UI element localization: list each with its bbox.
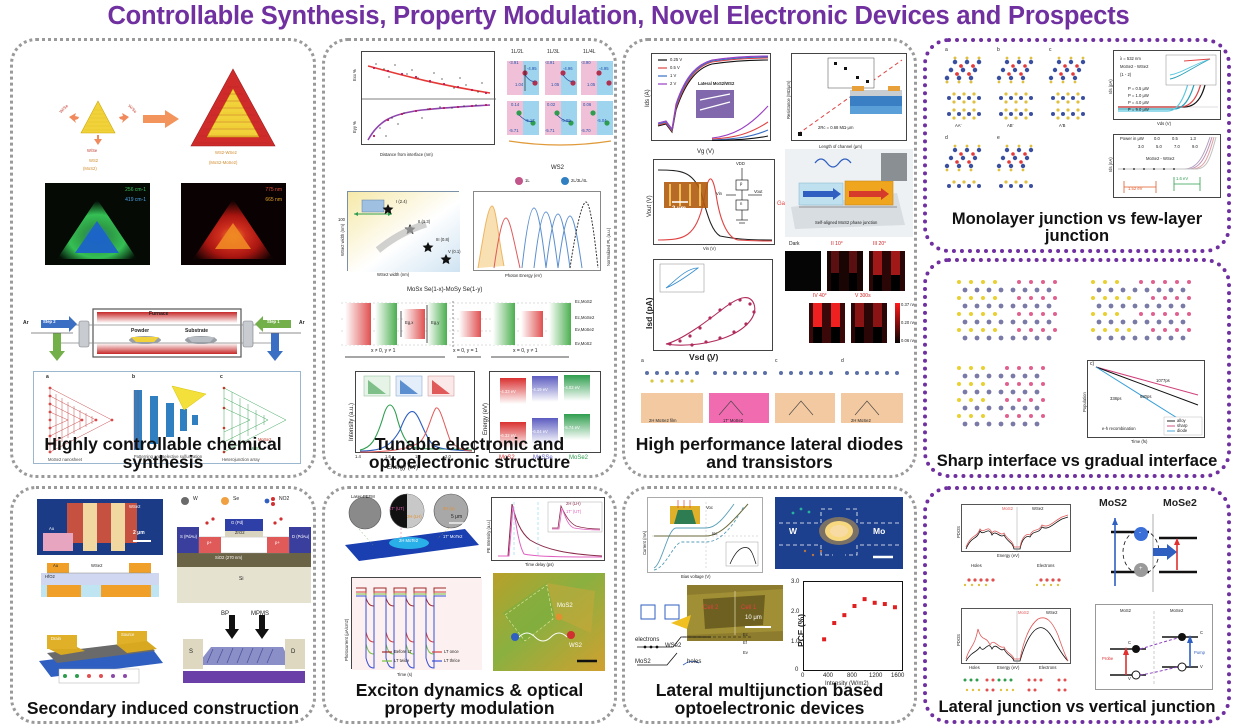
photocurrent-legend: Before LT LT twice LT once LT thrice xyxy=(382,648,478,666)
width-point-5: V (0.1) xyxy=(448,250,461,254)
mpms-device-stack: G (Pd) S (PdAu) D (PdAu) SiO2 (270 nm) S… xyxy=(177,511,311,607)
panel-6-caption: Secondary induced construction xyxy=(17,699,309,717)
iv-photoresponse-plot: λ = 532 nm MoSe2 - WSe2 (1 - 2) P = 0.5 … xyxy=(1113,50,1221,120)
alloy-gap-x: Eg,x xyxy=(405,321,413,325)
recombination-letter: c) xyxy=(1090,362,1094,367)
legend-se: Se xyxy=(233,497,239,502)
panel-3-caption: High performance lateral diodes and tran… xyxy=(629,435,910,471)
solar-iv-plot: Voc Isc xyxy=(647,497,763,573)
band-offset-header-1: 1L/3L xyxy=(547,50,560,55)
stacking-label-ab: AB' xyxy=(1007,124,1013,128)
photocurrent-legend-3: LT thrice xyxy=(444,659,460,663)
pdos-bottom-ylabel: PDOS xyxy=(957,634,961,646)
power-val-6: 9.0 xyxy=(1192,145,1198,149)
recombination-annot-680: 680ps xyxy=(1140,395,1151,399)
alloy-band-diagram: Ec,MoS2 Ec,MoSe2 Ev,MoSe2 Ev,MoS2 Eg,x E… xyxy=(341,297,603,367)
photocurrent-ylabel: Photocurrent (μA/cm2) xyxy=(345,619,349,661)
pump-probe-sketch: MoS2 MoSe2 Probe Pump C C V V xyxy=(1095,604,1213,690)
panel-1-caption: Highly controllable chemical synthesis xyxy=(17,435,309,471)
width-star-plot: I (2.4) II (1.3) III (0.8) V (0.1) 100 xyxy=(347,191,459,271)
peem-label-1t: 1T' (UT) xyxy=(389,507,404,511)
mpms-substrate: Si xyxy=(239,577,243,582)
band-offset-material: WS2 xyxy=(551,165,564,171)
furnace-substrate-label: Substrate xyxy=(185,329,208,334)
panel-tunable-structure[interactable]: Exx % Eyy % Distance from interface (nm) xyxy=(322,38,617,478)
band-ef-label: Ef xyxy=(743,641,747,645)
growth-core-label-2: (MoS2) xyxy=(83,167,97,171)
optical-hetero-mos2: MoS2 xyxy=(557,603,573,609)
pce-xtick-4: 1600 xyxy=(891,673,904,679)
optical-heterostructure-image: MoS2 WS2 xyxy=(493,573,605,671)
pce-plot xyxy=(803,581,903,671)
photocurrent-label-3: III 20° xyxy=(873,242,886,247)
pdos-top-holes: Holes xyxy=(971,564,982,568)
band-energy-ylabel: Energy (eV) xyxy=(483,403,489,435)
pl-junction-mo: Mo xyxy=(873,527,885,536)
power-val-1: 0.5 xyxy=(1172,137,1178,141)
panel-exciton-dynamics[interactable]: Laser-PEEM 1T' (UT) 2H (LH) 2H (a) 2H Mo… xyxy=(322,486,617,724)
solar-annot-voc: Voc xyxy=(706,506,713,510)
band-offset-botright-1: -5.09 xyxy=(561,119,571,123)
pdos-bottom-lattices xyxy=(955,674,1081,696)
pump-probe-v-right: V xyxy=(1200,665,1203,669)
band-offset-topleft-2: -3.90 xyxy=(581,61,591,65)
pce-ytick-0: 3.0 xyxy=(791,579,799,585)
pe-legend-1t: 1T' (UT) xyxy=(566,510,581,514)
alloy-diagram-title: MoSx Se(1-x)-MoSy Se(1-y) xyxy=(407,287,482,293)
mpms-doping-1: p+ xyxy=(275,541,280,545)
inverter-vdd: VDD xyxy=(736,162,745,166)
lattice-alloy xyxy=(953,360,1073,434)
recombination-annot-1077: 1077ps xyxy=(1156,379,1170,383)
stacking-letter-d: d xyxy=(945,136,948,141)
optical-hetero-ws2: WS2 xyxy=(569,643,582,649)
pdos-top-xlabel: Energy (eV) xyxy=(997,554,1019,558)
legend-no2: NO2 xyxy=(279,497,289,502)
device-cross-section: Au WSe2 HfO2 xyxy=(37,559,163,603)
photocurrent-cbar-1: 0.20 nA xyxy=(901,321,914,325)
bp-source: S xyxy=(189,649,193,655)
growth-product-label-1: WS2-WSe2 xyxy=(215,151,237,155)
panel-1-body: W/Se W/Se W/Se WS2 (MoS2) WS2-WSe2 (MoS2… xyxy=(13,41,313,475)
band-offset-gaptop-1: 1.05 xyxy=(551,83,559,87)
cross-section-label-au: Au xyxy=(53,564,58,568)
pdos-bottom-legend-1: WSe2 xyxy=(1046,611,1057,615)
photocurrent-label-4: IV 40° xyxy=(813,294,827,299)
alloy-gap-y: Eg,y xyxy=(431,321,439,325)
cross-section-label-hfo2: HfO2 xyxy=(45,575,55,579)
photocurrent-cbar-2: 0.06 nA xyxy=(901,339,914,343)
pump-probe-pump-label: Pump xyxy=(1194,651,1205,655)
panel-9-caption: Lateral junction vs vertical junction xyxy=(931,699,1223,716)
power-sample: MoSe2 - WSe2 xyxy=(1146,157,1174,161)
recombination-plot: c) 1077ps 680ps 338ps e-h recombination … xyxy=(1087,360,1205,438)
panel-monolayer-vs-fewlayer[interactable]: a b c d e AA' AB' A'B xyxy=(923,38,1231,253)
lattice-letter-a: a xyxy=(641,359,644,364)
legend-w: W xyxy=(193,497,198,502)
pump-probe-v-left: V xyxy=(1128,677,1131,681)
pce-xtick-0: 0 xyxy=(801,673,804,679)
pdos-top-legend-1: WSe2 xyxy=(1032,507,1043,511)
stacking-configurations: a b c d e AA' AB' A'B xyxy=(939,48,1099,196)
inverter-vout: Vout xyxy=(754,190,762,194)
transfer-legend-2: 1 V xyxy=(670,74,676,78)
band-offset-topright-0: -4.95 xyxy=(527,67,537,71)
pl-label-775: 775 nm xyxy=(265,188,282,193)
iv-legend-2: P = 4.0 μW xyxy=(1128,101,1149,105)
peem-scale: 5 μm xyxy=(451,515,462,520)
band-offset-botleft-0: -5.71 xyxy=(509,129,519,133)
furnace-step1-right: Step 1 xyxy=(267,320,280,324)
panel-8-caption: Lateral multijunction based optoelectron… xyxy=(629,681,910,717)
hysteresis-ylabel: Isd (pA) xyxy=(645,297,654,329)
cross-section-label-wse2: WSe2 xyxy=(91,564,102,568)
pe-decay-plot: 2H (LH) 1T' (UT) xyxy=(491,497,605,561)
inverter-n: n xyxy=(740,202,742,206)
panel-multijunction-optoelectronic[interactable]: Voc Isc Current (mA) Bias voltage (V) xyxy=(622,486,917,724)
sulfur-letter-a: a xyxy=(46,375,49,380)
band-offset-botleft-2: -5.70 xyxy=(581,129,591,133)
hysteresis-plot xyxy=(653,259,773,351)
inverter-xlabel: Vin (V) xyxy=(703,247,716,251)
iv-annot-0: λ = 532 nm xyxy=(1120,57,1141,61)
pump-probe-c-right: C xyxy=(1200,631,1203,635)
alloy-level-3: Ev,MoS2 xyxy=(575,342,592,346)
rectifier-illustration: Self-aligned MoS2 phase junction xyxy=(785,149,913,237)
strain-plot xyxy=(361,51,495,145)
solar-annot-isc: Isc xyxy=(712,532,717,536)
photocurrent-xlabel: Time (s) xyxy=(397,673,412,677)
power-dependence-plot: Power in μW 0.0 0.5 1.3 3.0 5.0 7.0 9.0 … xyxy=(1113,134,1221,198)
panel-6-body: WSe2 Au 2 μm Au WSe2 HfO2 xyxy=(13,489,313,721)
stacking-letter-c: c xyxy=(1049,48,1052,53)
stacking-letter-a: a xyxy=(945,48,948,53)
stacking-label-aa: AA' xyxy=(955,124,961,128)
band-offset-topleft-0: -3.91 xyxy=(509,61,519,65)
pdos-bottom-holes: Holes xyxy=(969,666,980,670)
iv-xlabel: Vds (V) xyxy=(1157,122,1171,126)
stacking-letter-e: e xyxy=(997,136,1000,141)
peem-illustration: Laser-PEEM 1T' (UT) 2H (LH) 2H (a) 2H Mo… xyxy=(339,495,483,567)
width-ylabel: WSe2 width (nm) xyxy=(341,224,345,256)
width-ytick: 100 xyxy=(338,218,345,222)
band-offset-gapbot-2: 0.06 xyxy=(583,103,591,107)
peem-label-2h: 2H (LH) xyxy=(407,515,422,519)
sulfur-letter-c: c xyxy=(220,375,223,380)
strain-xlabel: Distance from interface (nm) xyxy=(380,153,433,157)
optical-image-label-au: Au xyxy=(49,527,54,531)
panel-chemical-synthesis[interactable]: W/Se W/Se W/Se WS2 (MoS2) WS2-WSe2 (MoS2… xyxy=(10,38,316,478)
mpms-label: MPMS xyxy=(251,611,269,617)
pe-decay-ylabel: PE Intensity (a.u.) xyxy=(487,520,491,553)
growth-schematic: W/Se W/Se W/Se WS2 (MoS2) WS2-WSe2 (MoS2… xyxy=(43,51,293,176)
band-energy-cbm-2: -4.02 eV xyxy=(564,386,580,390)
band-offset-topright-2: -4.95 xyxy=(599,67,609,71)
band-energy-cbm-0: -4.33 eV xyxy=(500,390,516,394)
mpms-dielectric: ZrO2 xyxy=(235,531,245,535)
bp-drain: D xyxy=(291,649,295,655)
lattice-letter-c: c xyxy=(775,359,778,364)
width-point-2: II (1.3) xyxy=(418,220,430,224)
mpms-gate: G (Pd) xyxy=(231,521,243,525)
pdos-top-lattices xyxy=(955,572,1081,592)
sulfur-letter-b: b xyxy=(132,375,135,380)
band-energy-vbm-2: -5.74 eV xyxy=(564,426,580,430)
width-point-3: III (0.8) xyxy=(436,238,449,242)
transfer-inset-label: Lateral MoS2/WS2 xyxy=(698,82,734,86)
lattice-letter-b: b xyxy=(709,359,712,364)
pl-map-image: 775 nm 665 nm xyxy=(181,183,286,265)
width-point-1: I (2.4) xyxy=(396,200,407,204)
furnace-gas-right: Ar xyxy=(299,321,305,326)
band-offset-topleft-1: -3.91 xyxy=(545,61,555,65)
normalized-pl-plot xyxy=(473,191,601,271)
inverter-plot: 2 μm VDD Vin Vout p n xyxy=(653,159,775,245)
transfer-xlabel: Vg (V) xyxy=(697,149,714,155)
recombination-legend-2: diode xyxy=(1177,429,1187,433)
lattice-sub-0: 2H MoSe2 film xyxy=(649,419,676,423)
band-sketch: electrons holes WSe2 MoS2 Ec Ef Ev xyxy=(631,589,781,675)
inverter-p: p xyxy=(740,182,742,186)
panel-2-body: Exx % Eyy % Distance from interface (nm) xyxy=(325,41,614,475)
band-offset-botright-2: -5.04 xyxy=(597,119,607,123)
iv-annot-2: (1 - 2) xyxy=(1120,73,1131,77)
band-offset-gaptop-2: 1.05 xyxy=(587,83,595,87)
transfer-legend: 0.25 V 0.5 V 1 V 2 V xyxy=(657,57,703,89)
device-3d-drain: Drain xyxy=(51,637,61,641)
rectifier-caption: Self-aligned MoS2 phase junction xyxy=(815,221,877,225)
transfer-ylabel: Ids (A) xyxy=(645,89,651,107)
photocurrent-legend-1: LT once xyxy=(444,650,459,654)
recombination-xlabel: Time (fs) xyxy=(1131,440,1147,444)
photocurrent-label-5: V 300s xyxy=(855,294,871,299)
panel-4-caption: Monolayer junction vs few-layer junction xyxy=(931,211,1223,245)
panel-sharp-vs-gradual[interactable]: c) 1077ps 680ps 338ps e-h recombination … xyxy=(923,258,1231,478)
panel-5-body: c) 1077ps 680ps 338ps e-h recombination … xyxy=(927,262,1227,474)
strain-ylabel-bottom: Eyy % xyxy=(353,121,357,133)
furnace-gas-left: Ar xyxy=(23,321,29,326)
mpms-doping-0: p+ xyxy=(207,541,212,545)
pump-probe-c-left: C xyxy=(1128,641,1131,645)
pdos-top-legend-0: MoS2 xyxy=(1002,507,1013,511)
panel-9-body: MoS2 WSe2 PDOS Energy (eV) Holes Electro… xyxy=(927,490,1227,720)
photocurrent-label-2: II 10° xyxy=(831,242,843,247)
pdos-bottom-xlabel: Energy (eV) xyxy=(997,666,1019,670)
solar-xlabel: Bias voltage (V) xyxy=(681,575,711,579)
power-ylabel: Ids (nA) xyxy=(1109,157,1113,172)
alloy-level-0: Ec,MoS2 xyxy=(575,300,592,304)
inverter-scale-bar: 2 μm xyxy=(672,206,686,212)
iv-ylabel: Ids (pA) xyxy=(1109,79,1113,94)
normalized-pl-xlabel: Photon Energy (eV) xyxy=(505,274,542,278)
power-val-0: 0.0 xyxy=(1154,137,1160,141)
exciton-mose2-title: MoSe2 xyxy=(1163,498,1197,509)
iv-annot-1: MoSe2 - WSe2 xyxy=(1120,65,1148,69)
normalized-pl-ylabel: Normalized PL (a.u.) xyxy=(607,228,611,266)
raman-map-image: 256 cm-1 419 cm-1 xyxy=(45,183,150,265)
panel-5-caption: Sharp interface vs gradual interface xyxy=(931,453,1223,470)
band-offset-diagrams: 1L/2L 1L/3L 1L/4L -3.91 -4.95 1.04 0.14 … xyxy=(505,49,614,161)
optical-device-image: WSe2 Au 2 μm xyxy=(37,499,163,555)
band-ec-label: Ec xyxy=(743,633,748,637)
width-xlabel: WSe2 width (nm) xyxy=(377,273,409,277)
recombination-ylabel: Population xyxy=(1083,392,1087,412)
resistance-ylabel: Resistance (MΩ/μm) xyxy=(787,81,791,119)
pl-junction-w: W xyxy=(789,527,797,536)
alloy-level-1: Ec,MoSe2 xyxy=(575,316,594,320)
pce-ytick-3: 0 xyxy=(795,667,798,673)
band-offset-gaptop-0: 1.04 xyxy=(515,83,523,87)
resistance-plot: 2Rc = 0.68 MΩ·μm xyxy=(791,53,907,141)
photocurrent-switching-plot: Before LT LT twice LT once LT thrice xyxy=(351,577,481,669)
mpms-drain: D (PdAu) xyxy=(292,535,309,539)
pdos-plot-bottom: MoS2 WSe2 xyxy=(961,608,1071,664)
panel-7-caption: Exciton dynamics & optical property modu… xyxy=(329,681,610,717)
bp-label: BP xyxy=(221,611,229,617)
band-offset-gapbot-1: 0.02 xyxy=(547,103,555,107)
raman-label-419: 419 cm-1 xyxy=(125,198,146,203)
iv-legend-0: P = 0.5 μW xyxy=(1128,87,1149,91)
power-val-3: 3.0 xyxy=(1138,145,1144,149)
growth-product-label-2: (MoS2-MoSe2) xyxy=(209,161,237,165)
legend-atoms: W Se NO2 xyxy=(179,495,309,507)
strain-ylabel-top: Exx % xyxy=(353,69,357,81)
pl-junction-image: W Mo xyxy=(775,497,903,569)
band-mos2-label: MoS2 xyxy=(635,659,651,665)
transfer-legend-1: 0.5 V xyxy=(670,66,680,70)
furnace-label: Furnace xyxy=(149,312,168,317)
exciton-mos2-title: MoS2 xyxy=(1099,498,1127,509)
pdos-bottom-electrons: Electrons xyxy=(1039,666,1056,670)
resistance-fit-note: 2Rc = 0.68 MΩ·μm xyxy=(818,126,853,130)
band-offset-header-0: 1L/2L xyxy=(511,50,524,55)
power-header: Power in μW xyxy=(1120,137,1144,141)
pce-xtick-1: 400 xyxy=(823,673,833,679)
iv-legend-1: P = 1.0 μW xyxy=(1128,94,1149,98)
band-offset-legend-1l: 1L xyxy=(525,179,530,183)
photocurrent-legend-2: LT twice xyxy=(394,659,409,663)
pump-probe-mos2: MoS2 xyxy=(1120,609,1131,613)
panel-lateral-diodes[interactable]: Lateral MoS2/WS2 0.25 V 0.5 V 1 V 2 V Id… xyxy=(622,38,917,478)
photocurrent-cbar-0: 0.37 nA xyxy=(901,303,914,307)
pe-decay-xlabel: Time delay (ps) xyxy=(525,563,554,567)
peem-label-2ha: 2H (a) xyxy=(443,507,455,511)
band-wse2-label: WSe2 xyxy=(665,643,681,649)
band-energy-cbm-1: -4.19 eV xyxy=(532,388,548,392)
cvd-furnace-schematic: Furnace Powder Substrate Ar Ar Step 2 St… xyxy=(21,303,311,371)
alloy-level-2: Ev,MoSe2 xyxy=(575,328,594,332)
photocurrent-maps: Dark II 10° III 20° IV 40° V 300s 0.37 n… xyxy=(785,241,911,353)
inverter-ylabel-left: Vout (V) xyxy=(647,195,653,217)
peem-label-2h-mote2: 2H MoTe2 xyxy=(399,539,418,543)
stacking-label-a2b: A'B xyxy=(1059,124,1065,128)
lattice-sharp xyxy=(953,274,1073,348)
pdos-bottom-legend-0: MoS2 xyxy=(1018,611,1029,615)
power-annot-green: 1.6 eV xyxy=(1176,177,1188,181)
mpms-oxide: SiO2 (270 nm) xyxy=(215,556,242,560)
lattice-sub-2: 2H MoSe2 xyxy=(851,419,871,423)
furnace-step2-left: Step 2 xyxy=(43,320,56,324)
growth-seed-top-label: W/Se xyxy=(87,149,97,153)
photocurrent-label-dark: Dark xyxy=(789,242,800,247)
stacking-letter-b: b xyxy=(997,48,1000,53)
power-val-4: 5.0 xyxy=(1156,145,1162,149)
solar-ylabel: Current (mA) xyxy=(643,531,647,555)
recombination-note: e-h recombination xyxy=(1102,427,1136,431)
band-ev-label: Ev xyxy=(743,651,748,655)
alloy-region-1: x = 0, y = 1 xyxy=(453,349,478,354)
poster-root: Controllable Synthesis, Property Modulat… xyxy=(0,0,1237,728)
iv-legend-3: P = 9.0 μW xyxy=(1128,108,1149,112)
transfer-legend-0: 0.25 V xyxy=(670,58,682,62)
band-offset-botleft-1: -5.71 xyxy=(545,129,555,133)
exciton-transfer-sketch: - + xyxy=(1091,514,1221,592)
band-holes-label: holes xyxy=(687,659,701,665)
peem-title: Laser-PEEM xyxy=(351,495,375,499)
lattice-gradual xyxy=(1087,274,1207,348)
pdos-top-ylabel: PDOS xyxy=(957,526,961,538)
pce-svg xyxy=(804,582,904,672)
panel-lateral-vs-vertical[interactable]: MoS2 WSe2 PDOS Energy (eV) Holes Electro… xyxy=(923,486,1231,724)
exciton-charge-positive: + xyxy=(1139,566,1143,572)
pump-probe-probe-label: Probe xyxy=(1102,657,1113,661)
transfer-legend-3: 2 V xyxy=(670,82,676,86)
band-offset-botright-0: -5.17 xyxy=(525,119,535,123)
pump-probe-mose2: MoSe2 xyxy=(1170,609,1183,613)
pe-legend-2h: 2H (LH) xyxy=(566,502,581,506)
power-annot-red: 1.52 eV xyxy=(1128,187,1142,191)
power-val-2: 1.3 xyxy=(1190,137,1196,141)
furnace-powder-label: Powder xyxy=(131,329,149,334)
band-offset-gapbot-0: 0.14 xyxy=(511,103,519,107)
pce-xtick-2: 800 xyxy=(847,673,857,679)
page-title: Controllable Synthesis, Property Modulat… xyxy=(0,2,1237,31)
recombination-annot-338: 338ps xyxy=(1110,397,1121,401)
device-3d-source: Source xyxy=(121,633,134,637)
pce-xtick-3: 1200 xyxy=(869,673,882,679)
optical-image-label-wse2: WSe2 xyxy=(129,505,140,509)
mpms-source: S (PdAu) xyxy=(180,535,197,539)
pce-ytick-1: 2.0 xyxy=(791,609,799,615)
pdos-plot-top: MoS2 WSe2 xyxy=(961,504,1071,552)
growth-core-label-1: WS2 xyxy=(89,159,98,163)
panel-3-body: Lateral MoS2/WS2 0.25 V 0.5 V 1 V 2 V Id… xyxy=(625,41,914,475)
raman-label-256: 256 cm-1 xyxy=(125,188,146,193)
band-offset-header-2: 1L/4L xyxy=(583,50,596,55)
inverter-vin: Vin xyxy=(716,192,722,196)
pl-label-665: 665 nm xyxy=(265,198,282,203)
device-3d-illustration: Drain Source xyxy=(33,607,167,685)
bp-mpms-device: BP MPMS S D xyxy=(177,611,311,685)
lattice-sub-1: 1T' MoSe2 xyxy=(723,419,743,423)
band-offset-topright-1: -4.96 xyxy=(563,67,573,71)
alloy-region-2: x = 0, y ≠ 1 xyxy=(513,349,538,354)
band-electrons-label: electrons xyxy=(635,637,659,643)
pce-ytick-2: 1.0 xyxy=(791,639,799,645)
band-offset-legend-multi: 2L/3L/4L xyxy=(571,179,587,183)
lattice-letter-d: d xyxy=(841,359,844,364)
optical-image-scale: 2 μm xyxy=(133,531,145,536)
exciton-charge-negative: - xyxy=(1139,530,1141,536)
panel-2-caption: Tunable electronic and optoelectronic st… xyxy=(329,435,610,471)
alloy-region-0: x ≠ 0, y ≠ 1 xyxy=(371,349,395,354)
pdos-top-electrons: Electrons xyxy=(1037,564,1054,568)
panel-secondary-construction[interactable]: WSe2 Au 2 μm Au WSe2 HfO2 xyxy=(10,486,316,724)
power-val-5: 7.0 xyxy=(1174,145,1180,149)
photocurrent-legend-0: Before LT xyxy=(394,650,412,654)
peem-label-1t-mote2: 1T' MoTe2 xyxy=(443,535,462,539)
